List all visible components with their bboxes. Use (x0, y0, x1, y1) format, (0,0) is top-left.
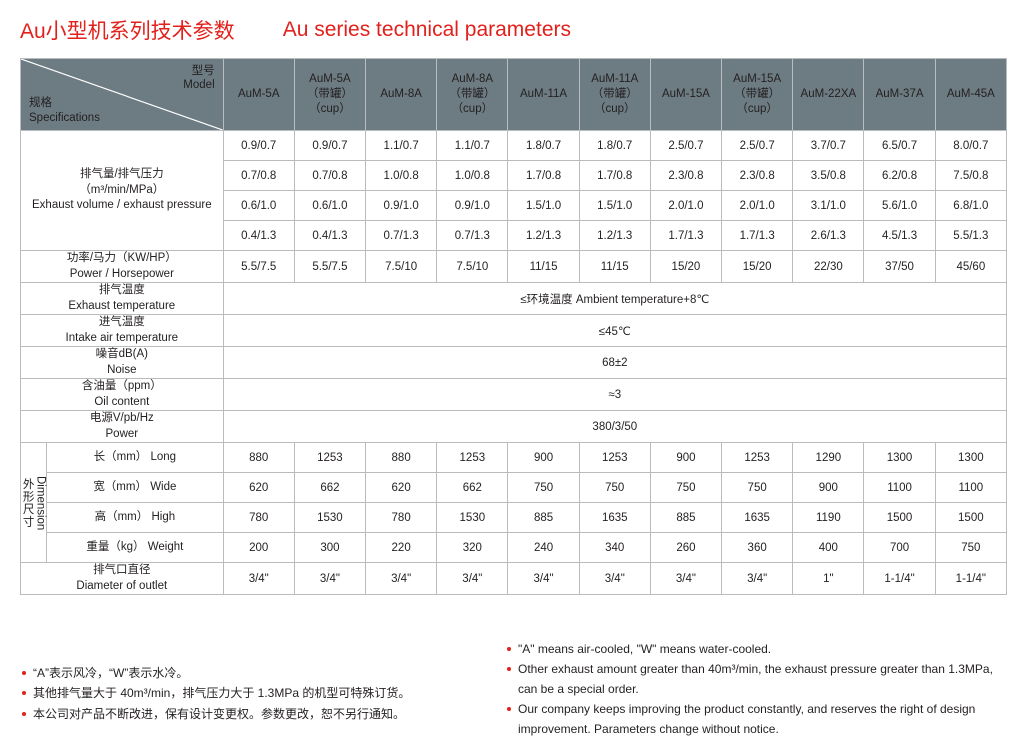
exhaust-cell: 0.6/1.0 (223, 191, 294, 221)
dimension-cell: 750 (650, 473, 721, 503)
footnote-text: "A" means air-cooled, "W" means water-co… (518, 642, 771, 656)
dimension-sub-label-wide: 宽（mm） Wide (47, 473, 224, 503)
power-supply-value: 380/3/50 (223, 411, 1006, 443)
label-cn: 长（mm） (94, 451, 148, 463)
footnote-item: 其他排气量大于 40m³/min，排气压力大于 1.3MPa 的机型可特殊订货。 (20, 684, 490, 703)
exhaust-cell: 5.6/1.0 (864, 191, 935, 221)
label-en: Oil content (21, 395, 223, 411)
model-header-4: AuM-11A (508, 59, 579, 131)
exhaust-cell: 2.0/1.0 (722, 191, 793, 221)
intake-temperature-value: ≤45℃ (223, 315, 1006, 347)
dimension-cell: 1530 (437, 503, 508, 533)
dimension-cell: 880 (366, 443, 437, 473)
label-cn: 高（mm） (95, 511, 149, 523)
footnote-item: Other exhaust amount greater than 40m³/m… (505, 660, 1010, 699)
footnote-text: 其他排气量大于 40m³/min，排气压力大于 1.3MPa 的机型可特殊订货。 (33, 686, 410, 700)
dimension-cell: 200 (223, 533, 294, 563)
model-note-en: （cup） (580, 102, 650, 117)
dimension-cell: 750 (508, 473, 579, 503)
label-en: High (151, 511, 175, 523)
label-cn: 宽（mm） (93, 481, 147, 493)
exhaust-cell: 6.5/0.7 (864, 131, 935, 161)
label-cn: 排气温度 (21, 283, 223, 299)
model-note-cn: （带罐） (295, 87, 365, 102)
exhaust-cell: 1.8/0.7 (508, 131, 579, 161)
exhaust-cell: 1.5/1.0 (579, 191, 650, 221)
power-supply-label-cell: 电源V/pb/Hz Power (21, 411, 224, 443)
dimension-group-label-cell: 外形尺寸 Dimension (21, 443, 47, 563)
exhaust-cell: 5.5/1.3 (935, 221, 1006, 251)
power-cell: 5.5/7.5 (223, 251, 294, 283)
exhaust-cell: 0.9/1.0 (437, 191, 508, 221)
footnote-text: Our company keeps improving the product … (518, 702, 975, 735)
model-name: AuM-15A (651, 87, 721, 102)
exhaust-cell: 2.3/0.8 (650, 161, 721, 191)
oil-content-label-cell: 含油量（ppm） Oil content (21, 379, 224, 411)
header-model-label-en: Model (183, 78, 214, 92)
dimension-cell: 1500 (935, 503, 1006, 533)
dimension-group-label-cn: 外形尺寸 (20, 478, 33, 528)
bullet-icon (22, 712, 26, 716)
model-header-8: AuM-22XA (793, 59, 864, 131)
power-cell: 7.5/10 (437, 251, 508, 283)
dimension-cell: 1300 (864, 443, 935, 473)
footnotes-cn: “A”表示风冷，“W”表示水冷。 其他排气量大于 40m³/min，排气压力大于… (20, 664, 490, 725)
exhaust-cell: 0.4/1.3 (223, 221, 294, 251)
noise-value: 68±2 (223, 347, 1006, 379)
dimension-cell: 885 (508, 503, 579, 533)
outlet-cell: 3/4" (722, 563, 793, 595)
header-spec-label: 规格 Specifications (29, 96, 100, 125)
model-note-en: （cup） (437, 102, 507, 117)
dimension-sub-label-long: 长（mm） Long (47, 443, 224, 473)
exhaust-cell: 6.8/1.0 (935, 191, 1006, 221)
bullet-icon (22, 691, 26, 695)
exhaust-cell: 2.5/0.7 (722, 131, 793, 161)
noise-label-cell: 噪音dB(A) Noise (21, 347, 224, 379)
model-header-6: AuM-15A (650, 59, 721, 131)
label-en: Weight (148, 541, 184, 553)
model-name: AuM-11A (580, 72, 650, 87)
dimension-cell: 750 (579, 473, 650, 503)
power-cell: 5.5/7.5 (294, 251, 365, 283)
oil-content-row: 含油量（ppm） Oil content ≈3 (21, 379, 1007, 411)
outlet-diameter-row: 排气口直径 Diameter of outlet 3/4" 3/4" 3/4" … (21, 563, 1007, 595)
bullet-icon (507, 707, 511, 711)
dimension-cell: 1100 (935, 473, 1006, 503)
model-note-en: （cup） (295, 102, 365, 117)
model-note-cn: （带罐） (722, 87, 792, 102)
dimension-cell: 1290 (793, 443, 864, 473)
dimension-cell: 780 (223, 503, 294, 533)
model-name: AuM-8A (366, 87, 436, 102)
exhaust-cell: 0.9/1.0 (366, 191, 437, 221)
footnote-text: 本公司对产品不断改进，保有设计变更权。参数更改，恕不另行通知。 (33, 707, 405, 721)
exhaust-cell: 0.9/0.7 (294, 131, 365, 161)
dimension-cell: 750 (935, 533, 1006, 563)
dimension-cell: 240 (508, 533, 579, 563)
model-name: AuM-15A (722, 72, 792, 87)
dimension-cell: 620 (223, 473, 294, 503)
exhaust-cell: 1.2/1.3 (508, 221, 579, 251)
dimension-cell: 1635 (722, 503, 793, 533)
model-note-cn: （带罐） (437, 87, 507, 102)
footnote-item: “A”表示风冷，“W”表示水冷。 (20, 664, 490, 683)
dimension-cell: 662 (294, 473, 365, 503)
dimension-cell: 700 (864, 533, 935, 563)
dimension-sub-label-high: 高（mm） High (47, 503, 224, 533)
exhaust-cell: 1.7/1.3 (722, 221, 793, 251)
dimension-cell: 1500 (864, 503, 935, 533)
dimension-cell: 900 (508, 443, 579, 473)
exhaust-cell: 0.9/0.7 (223, 131, 294, 161)
label-en: Noise (21, 363, 223, 379)
exhaust-cell: 3.7/0.7 (793, 131, 864, 161)
dimension-cell: 662 (437, 473, 508, 503)
outlet-cell: 3/4" (650, 563, 721, 595)
dimension-cell: 1300 (935, 443, 1006, 473)
dimension-cell: 900 (650, 443, 721, 473)
dimension-cell: 880 (223, 443, 294, 473)
model-name: AuM-11A (508, 87, 578, 102)
header-corner-cell: 型号 Model 规格 Specifications (21, 59, 224, 131)
dimension-cell: 340 (579, 533, 650, 563)
dimension-cell: 900 (793, 473, 864, 503)
power-cell: 45/60 (935, 251, 1006, 283)
power-supply-row: 电源V/pb/Hz Power 380/3/50 (21, 411, 1007, 443)
exhaust-cell: 1.5/1.0 (508, 191, 579, 221)
outlet-cell: 1-1/4" (864, 563, 935, 595)
bullet-icon (22, 671, 26, 675)
dimension-cell: 300 (294, 533, 365, 563)
exhaust-cell: 1.7/0.8 (579, 161, 650, 191)
exhaust-label-cn: 排气量/排气压力 (21, 167, 223, 183)
exhaust-cell: 1.0/0.8 (437, 161, 508, 191)
exhaust-cell: 3.1/1.0 (793, 191, 864, 221)
model-header-7: AuM-15A （带罐） （cup） (722, 59, 793, 131)
power-cell: 15/20 (722, 251, 793, 283)
exhaust-cell: 2.5/0.7 (650, 131, 721, 161)
dimension-cell: 620 (366, 473, 437, 503)
model-header-5: AuM-11A （带罐） （cup） (579, 59, 650, 131)
exhaust-cell: 3.5/0.8 (793, 161, 864, 191)
exhaust-cell: 2.3/0.8 (722, 161, 793, 191)
label-en: Intake air temperature (21, 331, 223, 347)
dimension-cell: 1530 (294, 503, 365, 533)
dimension-sub-label-weight: 重量（kg） Weight (47, 533, 224, 563)
dimension-cell: 1253 (294, 443, 365, 473)
exhaust-cell: 0.7/1.3 (437, 221, 508, 251)
exhaust-cell: 2.0/1.0 (650, 191, 721, 221)
label-en: Long (150, 451, 176, 463)
power-cell: 7.5/10 (366, 251, 437, 283)
header-spec-label-cn: 规格 (29, 96, 100, 110)
exhaust-cell: 6.2/0.8 (864, 161, 935, 191)
model-name: AuM-5A (295, 72, 365, 87)
bullet-icon (507, 647, 511, 651)
model-note-en: （cup） (722, 102, 792, 117)
label-cn: 排气口直径 (21, 563, 223, 579)
label-cn: 含油量（ppm） (21, 379, 223, 395)
dimension-cell: 780 (366, 503, 437, 533)
model-note-cn: （带罐） (580, 87, 650, 102)
power-cell: 15/20 (650, 251, 721, 283)
model-name: AuM-37A (864, 87, 934, 102)
exhaust-cell: 4.5/1.3 (864, 221, 935, 251)
exhaust-temperature-label-cell: 排气温度 Exhaust temperature (21, 283, 224, 315)
technical-parameters-table: 型号 Model 规格 Specifications AuM-5A AuM-5A… (20, 58, 1007, 595)
exhaust-row-0: 排气量/排气压力 （m³/min/MPa） Exhaust volume / e… (21, 131, 1007, 161)
header-model-label: 型号 Model (183, 64, 214, 93)
noise-row: 噪音dB(A) Noise 68±2 (21, 347, 1007, 379)
footnote-item: Our company keeps improving the product … (505, 700, 1010, 739)
exhaust-cell: 1.7/0.8 (508, 161, 579, 191)
model-header-3: AuM-8A （带罐） （cup） (437, 59, 508, 131)
power-horsepower-row: 功率/马力（KW/HP） Power / Horsepower 5.5/7.5 … (21, 251, 1007, 283)
power-label-en: Power / Horsepower (21, 267, 223, 283)
page-title-bar: Au小型机系列技术参数 Au series technical paramete… (20, 12, 1004, 48)
dimension-cell: 260 (650, 533, 721, 563)
header-model-label-cn: 型号 (183, 64, 214, 78)
model-name: AuM-45A (936, 87, 1006, 102)
label-en: Power (21, 427, 223, 443)
header-spec-label-en: Specifications (29, 111, 100, 125)
exhaust-cell: 2.6/1.3 (793, 221, 864, 251)
dimension-cell: 1100 (864, 473, 935, 503)
intake-temperature-label-cell: 进气温度 Intake air temperature (21, 315, 224, 347)
model-header-0: AuM-5A (223, 59, 294, 131)
exhaust-cell: 0.7/0.8 (223, 161, 294, 191)
exhaust-cell: 8.0/0.7 (935, 131, 1006, 161)
dimension-cell: 1253 (437, 443, 508, 473)
dimension-cell: 320 (437, 533, 508, 563)
dimension-row-long: 外形尺寸 Dimension 长（mm） Long 880 1253 880 1… (21, 443, 1007, 473)
footnotes: “A”表示风冷，“W”表示水冷。 其他排气量大于 40m³/min，排气压力大于… (0, 640, 1024, 751)
dimension-row-weight: 重量（kg） Weight 200 300 220 320 240 340 26… (21, 533, 1007, 563)
exhaust-cell: 1.0/0.8 (366, 161, 437, 191)
exhaust-cell: 7.5/0.8 (935, 161, 1006, 191)
dimension-row-high: 高（mm） High 780 1530 780 1530 885 1635 88… (21, 503, 1007, 533)
intake-temperature-row: 进气温度 Intake air temperature ≤45℃ (21, 315, 1007, 347)
dimension-cell: 400 (793, 533, 864, 563)
dimension-cell: 885 (650, 503, 721, 533)
dimension-cell: 1635 (579, 503, 650, 533)
model-header-9: AuM-37A (864, 59, 935, 131)
exhaust-temperature-value: ≤环境温度 Ambient temperature+8℃ (223, 283, 1006, 315)
model-header-1: AuM-5A （带罐） （cup） (294, 59, 365, 131)
page-title-en: Au series technical parameters (283, 18, 571, 42)
model-name: AuM-22XA (793, 87, 863, 102)
power-cell: 22/30 (793, 251, 864, 283)
label-cn: 进气温度 (21, 315, 223, 331)
outlet-cell: 3/4" (294, 563, 365, 595)
dimension-cell: 1253 (579, 443, 650, 473)
label-cn: 重量（kg） (86, 541, 144, 553)
dimension-cell: 360 (722, 533, 793, 563)
model-header-2: AuM-8A (366, 59, 437, 131)
model-name: AuM-5A (224, 87, 294, 102)
label-en: Diameter of outlet (21, 579, 223, 595)
outlet-cell: 3/4" (366, 563, 437, 595)
exhaust-cell: 1.7/1.3 (650, 221, 721, 251)
exhaust-label-en: Exhaust volume / exhaust pressure (21, 198, 223, 214)
exhaust-temperature-row: 排气温度 Exhaust temperature ≤环境温度 Ambient t… (21, 283, 1007, 315)
label-en: Wide (150, 481, 176, 493)
footnote-item: "A" means air-cooled, "W" means water-co… (505, 640, 1010, 659)
dimension-cell: 220 (366, 533, 437, 563)
exhaust-cell: 0.4/1.3 (294, 221, 365, 251)
power-cell: 11/15 (508, 251, 579, 283)
footnote-text: Other exhaust amount greater than 40m³/m… (518, 662, 993, 695)
power-horsepower-label-cell: 功率/马力（KW/HP） Power / Horsepower (21, 251, 224, 283)
label-cn: 电源V/pb/Hz (21, 411, 223, 427)
exhaust-cell: 1.2/1.3 (579, 221, 650, 251)
exhaust-cell: 0.6/1.0 (294, 191, 365, 221)
footnote-text: “A”表示风冷，“W”表示水冷。 (33, 666, 188, 680)
exhaust-cell: 1.8/0.7 (579, 131, 650, 161)
label-en: Exhaust temperature (21, 299, 223, 315)
dimension-cell: 750 (722, 473, 793, 503)
dimension-cell: 1253 (722, 443, 793, 473)
exhaust-label-unit: （m³/min/MPa） (21, 183, 223, 199)
label-cn: 噪音dB(A) (21, 347, 223, 363)
model-name: AuM-8A (437, 72, 507, 87)
dimension-row-wide: 宽（mm） Wide 620 662 620 662 750 750 750 7… (21, 473, 1007, 503)
outlet-cell: 3/4" (437, 563, 508, 595)
dimension-cell: 1190 (793, 503, 864, 533)
outlet-cell: 1" (793, 563, 864, 595)
outlet-cell: 3/4" (223, 563, 294, 595)
dimension-group-label-en: Dimension (35, 476, 47, 530)
footnote-item: 本公司对产品不断改进，保有设计变更权。参数更改，恕不另行通知。 (20, 705, 490, 724)
bullet-icon (507, 667, 511, 671)
exhaust-cell: 0.7/1.3 (366, 221, 437, 251)
outlet-cell: 3/4" (579, 563, 650, 595)
footnotes-en: "A" means air-cooled, "W" means water-co… (505, 640, 1010, 740)
exhaust-cell: 1.1/0.7 (366, 131, 437, 161)
exhaust-cell: 1.1/0.7 (437, 131, 508, 161)
page-title-cn: Au小型机系列技术参数 (20, 15, 235, 45)
model-header-10: AuM-45A (935, 59, 1006, 131)
power-cell: 37/50 (864, 251, 935, 283)
outlet-cell: 1-1/4" (935, 563, 1006, 595)
power-label-cn: 功率/马力（KW/HP） (21, 251, 223, 267)
power-cell: 11/15 (579, 251, 650, 283)
oil-content-value: ≈3 (223, 379, 1006, 411)
exhaust-label-cell: 排气量/排气压力 （m³/min/MPa） Exhaust volume / e… (21, 131, 224, 251)
exhaust-cell: 0.7/0.8 (294, 161, 365, 191)
outlet-cell: 3/4" (508, 563, 579, 595)
table-header-row: 型号 Model 规格 Specifications AuM-5A AuM-5A… (21, 59, 1007, 131)
outlet-diameter-label-cell: 排气口直径 Diameter of outlet (21, 563, 224, 595)
